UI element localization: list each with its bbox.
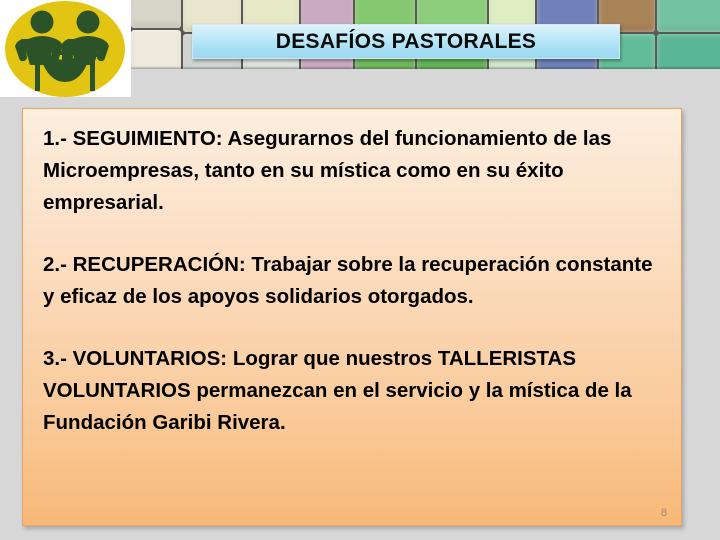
slide-title: DESAFÍOS PASTORALES	[276, 30, 536, 54]
page-number: 8	[661, 507, 667, 519]
mosaic-tile	[131, 0, 181, 28]
slide: DESAFÍOS PASTORALES 1.- SEGUIMIENTO: Ase…	[0, 0, 720, 540]
mosaic-tile	[657, 0, 720, 32]
paragraph-voluntarios: 3.- VOLUNTARIOS: Lograr que nuestros TAL…	[43, 343, 663, 439]
two-people-holding-net-icon	[5, 1, 125, 97]
mosaic-tile	[131, 30, 181, 69]
paragraph-recuperacion: 2.- RECUPERACIÓN: Trabajar sobre la recu…	[43, 249, 663, 313]
paragraph-seguimiento: 1.- SEGUIMIENTO: Asegurarnos del funcion…	[43, 123, 663, 219]
title-banner: DESAFÍOS PASTORALES	[192, 24, 620, 59]
logo-plate	[0, 0, 131, 97]
content-box: 1.- SEGUIMIENTO: Asegurarnos del funcion…	[22, 108, 682, 526]
mosaic-tile	[657, 34, 720, 69]
